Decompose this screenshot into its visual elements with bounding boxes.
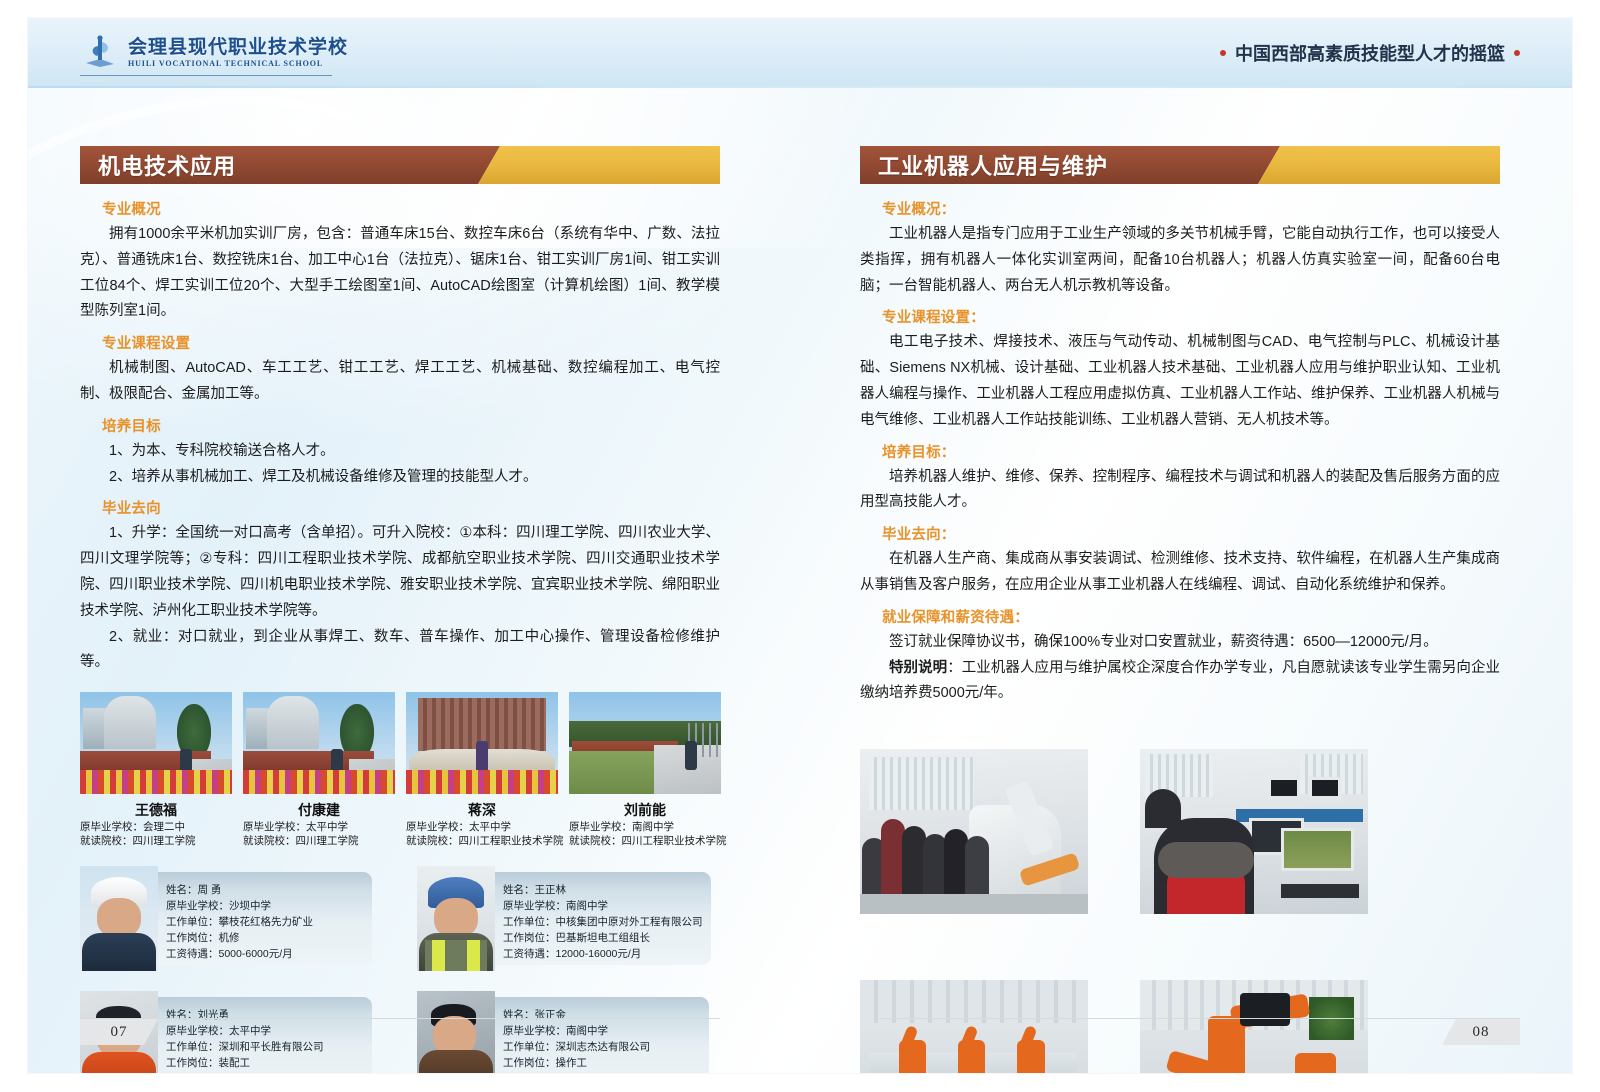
slogan-dot-left-icon xyxy=(1220,50,1226,56)
employee-name: 姓名：王正林 xyxy=(503,883,703,899)
employee-company: 工作单位：攀枝花红格先力矿业 xyxy=(166,915,364,931)
employee-card-info: 姓名：王正林 原毕业学校：南阁中学 工作单位：中核集团中原对外工程有限公司 工作… xyxy=(491,872,711,965)
employee-origin-school: 原毕业学校：南阁中学 xyxy=(503,1024,701,1040)
left-heading-overview: 专业概况 xyxy=(102,198,720,219)
header-divider xyxy=(28,86,1572,88)
right-footer-rule xyxy=(880,1018,1520,1019)
employee-company: 工作单位：中核集团中原对外工程有限公司 xyxy=(503,915,703,931)
left-heading-goal: 培养目标 xyxy=(102,415,720,436)
employee-name: 姓名：刘光勇 xyxy=(166,1008,364,1024)
employee-portrait-photo xyxy=(417,991,495,1073)
employee-salary: 工资待遇：5000-6000元/月 xyxy=(166,947,364,963)
employee-name: 姓名：张正金 xyxy=(503,1008,701,1024)
header-slogan: 中国西部高素质技能型人才的摇篮 xyxy=(1220,38,1520,68)
left-body-courses: 机械制图、AutoCAD、车工工艺、钳工工艺、焊工工艺、机械基础、数控编程加工、… xyxy=(80,356,720,408)
employee-company: 工作单位：深圳和平长胜有限公司 xyxy=(166,1040,364,1056)
alumni-origin-school: 原毕业学校：会理二中 xyxy=(80,820,232,834)
employee-card-info: 姓名：张正金 原毕业学校：南阁中学 工作单位：深圳志杰达有限公司 工作岗位：操作… xyxy=(491,997,709,1073)
robot-training-lab-photo xyxy=(860,749,1088,914)
school-logo-text: 会理县现代职业技术学校 HUILI VOCATIONAL TECHNICAL S… xyxy=(128,38,348,69)
alumni-campus-gate-photo-1 xyxy=(80,692,232,794)
alumni-campus-building-photo-3 xyxy=(406,692,558,794)
robot-arm-closeup-photo xyxy=(1140,980,1368,1073)
left-banner-brown: 机电技术应用 xyxy=(80,146,500,184)
slogan-dot-right-icon xyxy=(1514,50,1520,56)
left-goal-item-1: 1、为本、专科院校输送合格人才。 xyxy=(80,439,720,465)
alumni-name: 付康建 xyxy=(243,800,395,820)
school-name-en: HUILI VOCATIONAL TECHNICAL SCHOOL xyxy=(128,59,348,68)
employee-post: 工作岗位：操作工 xyxy=(503,1056,701,1072)
left-section-banner: 机电技术应用 xyxy=(80,146,720,184)
employee-card-info: 姓名：周 勇 原毕业学校：沙坝中学 工作单位：攀枝花红格先力矿业 工作岗位：机修… xyxy=(154,872,372,965)
employee-salary: 工资待遇：5000-6000元/月 xyxy=(166,1072,364,1073)
right-special-note-body: ：工业机器人应用与维护属校企深度合作办学专业，凡自愿就读该专业学生需另向企业缴纳… xyxy=(860,660,1500,702)
right-body-courses: 电工电子技术、焊接技术、液压与气动传动、机械制图与CAD、电气控制与PLC、机械… xyxy=(860,330,1500,433)
robot-photo-grid xyxy=(860,749,1500,1073)
right-heading-overview: 专业概况： xyxy=(882,198,1500,219)
employee-salary: 工资待遇：12000-16000元/月 xyxy=(503,947,703,963)
alumni-name: 蒋深 xyxy=(406,800,558,820)
alumni-photo-cell: 付康建 原毕业学校：太平中学 就读院校：四川理工学院 xyxy=(243,692,395,848)
left-heading-destination: 毕业去向 xyxy=(102,497,720,518)
left-dest-item-1: 1、升学：全国统一对口高考（含单招）。可升入院校：①本科：四川理工学院、四川农业… xyxy=(80,521,720,624)
right-special-note-label: 特别说明 xyxy=(889,660,947,676)
school-name-cn: 会理县现代职业技术学校 xyxy=(128,38,348,58)
industrial-robot-workshop-photo xyxy=(860,980,1088,1073)
left-banner-gold xyxy=(478,146,720,184)
alumni-photo-cell: 王德福 原毕业学校：会理二中 就读院校：四川理工学院 xyxy=(80,692,232,848)
alumni-photo-cell: 刘前能 原毕业学校：南阁中学 就读院校：四川工程职业技术学院 xyxy=(569,692,721,848)
right-heading-courses: 专业课程设置： xyxy=(882,306,1500,327)
school-logo: 会理县现代职业技术学校 HUILI VOCATIONAL TECHNICAL S… xyxy=(80,30,330,76)
right-body-goal: 培养机器人维护、维修、保养、控制程序、编程技术与调试和机器人的装配及售后服务方面… xyxy=(860,465,1500,517)
right-banner-brown: 工业机器人应用与维护 xyxy=(860,146,1280,184)
right-heading-destination: 毕业去向： xyxy=(882,523,1500,544)
employee-origin-school: 原毕业学校：太平中学 xyxy=(166,1024,364,1040)
alumni-campus-gate-photo-2 xyxy=(243,692,395,794)
alumni-origin-school: 原毕业学校：南阁中学 xyxy=(569,820,721,834)
right-banner-title: 工业机器人应用与维护 xyxy=(860,149,1108,181)
left-goal-item-2: 2、培养从事机械加工、焊工及机械设备维修及管理的技能型人才。 xyxy=(80,465,720,491)
alumni-origin-school: 原毕业学校：太平中学 xyxy=(406,820,558,834)
left-heading-courses: 专业课程设置 xyxy=(102,332,720,353)
alumni-origin-school: 原毕业学校：太平中学 xyxy=(243,820,395,834)
robot-simulation-computer-lab-photo xyxy=(1140,749,1368,914)
alumni-photo-cell: 蒋深 原毕业学校：太平中学 就读院校：四川工程职业技术学院 xyxy=(406,692,558,848)
employee-card-row: 姓名：刘光勇 原毕业学校：太平中学 工作单位：深圳和平长胜有限公司 工作岗位：装… xyxy=(80,991,720,1073)
alumni-name: 王德福 xyxy=(80,800,232,820)
left-dest-item-2: 2、就业：对口就业，到企业从事焊工、数车、普车操作、加工中心操作、管理设备检修维… xyxy=(80,625,720,677)
right-banner-gold xyxy=(1258,146,1500,184)
brochure-spread: 会理县现代职业技术学校 HUILI VOCATIONAL TECHNICAL S… xyxy=(28,18,1572,1073)
right-body-overview: 工业机器人是指专门应用于工业生产领域的多关节机械手臂，它能自动执行工作，也可以接… xyxy=(860,222,1500,299)
alumni-current-college: 就读院校：四川理工学院 xyxy=(80,834,232,848)
school-emblem-icon xyxy=(80,33,120,73)
left-body-overview: 拥有1000余平米机加实训厂房，包含：普通车床15台、数控车床6台（系统有华中、… xyxy=(80,222,720,325)
alumni-current-college: 就读院校：四川工程职业技术学院 xyxy=(406,834,558,848)
right-body-destination: 在机器人生产商、集成商从事安装调试、检测维修、技术支持、软件编程，在机器人生产集… xyxy=(860,547,1500,599)
right-heading-goal: 培养目标： xyxy=(882,441,1500,462)
employee-portrait-photo xyxy=(80,866,158,971)
left-page-column: 机电技术应用 专业概况 拥有1000余平米机加实训厂房，包含：普通车床15台、数… xyxy=(80,146,720,1073)
logo-underline xyxy=(80,75,332,76)
employee-origin-school: 原毕业学校：沙坝中学 xyxy=(166,899,364,915)
left-banner-title: 机电技术应用 xyxy=(80,149,236,181)
employee-card: 姓名：周 勇 原毕业学校：沙坝中学 工作单位：攀枝花红格先力矿业 工作岗位：机修… xyxy=(80,866,372,971)
employee-portrait-photo xyxy=(417,866,495,971)
alumni-current-college: 就读院校：四川工程职业技术学院 xyxy=(569,834,721,848)
employee-card-row: 姓名：周 勇 原毕业学校：沙坝中学 工作单位：攀枝花红格先力矿业 工作岗位：机修… xyxy=(80,866,720,971)
right-body-employment-salary: 签订就业保障协议书，确保100%专业对口安置就业，薪资待遇：6500—12000… xyxy=(860,630,1500,656)
employee-card-info: 姓名：刘光勇 原毕业学校：太平中学 工作单位：深圳和平长胜有限公司 工作岗位：装… xyxy=(154,997,372,1073)
slogan-text: 中国西部高素质技能型人才的摇篮 xyxy=(1235,40,1505,66)
right-page-column: 工业机器人应用与维护 专业概况： 工业机器人是指专门应用于工业生产领域的多关节机… xyxy=(860,146,1500,1073)
employee-card: 姓名：王正林 原毕业学校：南阁中学 工作单位：中核集团中原对外工程有限公司 工作… xyxy=(417,866,709,971)
employee-origin-school: 原毕业学校：南阁中学 xyxy=(503,899,703,915)
employee-post: 工作岗位：机修 xyxy=(166,931,364,947)
employee-post: 工作岗位：装配工 xyxy=(166,1056,364,1072)
employee-company: 工作单位：深圳志杰达有限公司 xyxy=(503,1040,701,1056)
alumni-current-college: 就读院校：四川理工学院 xyxy=(243,834,395,848)
employee-salary: 工资待遇：7000-8000元/月 xyxy=(503,1072,701,1073)
alumni-campus-lawn-photo-4 xyxy=(569,692,721,794)
right-section-banner: 工业机器人应用与维护 xyxy=(860,146,1500,184)
right-special-note: 特别说明：工业机器人应用与维护属校企深度合作办学专业，凡自愿就读该专业学生需另向… xyxy=(860,656,1500,708)
right-heading-employment-salary: 就业保障和薪资待遇： xyxy=(882,606,1500,627)
employee-post: 工作岗位：巴基斯坦电工组组长 xyxy=(503,931,703,947)
employee-card-grid: 姓名：周 勇 原毕业学校：沙坝中学 工作单位：攀枝花红格先力矿业 工作岗位：机修… xyxy=(80,866,720,1073)
employee-name: 姓名：周 勇 xyxy=(166,883,364,899)
brochure-page: 会理县现代职业技术学校 HUILI VOCATIONAL TECHNICAL S… xyxy=(0,0,1600,1092)
alumni-photo-row: 王德福 原毕业学校：会理二中 就读院校：四川理工学院 付康建 原毕业学校：太平中… xyxy=(80,692,720,848)
employee-card: 姓名：张正金 原毕业学校：南阁中学 工作单位：深圳志杰达有限公司 工作岗位：操作… xyxy=(417,991,709,1073)
alumni-name: 刘前能 xyxy=(569,800,721,820)
left-footer-rule xyxy=(80,1018,720,1019)
